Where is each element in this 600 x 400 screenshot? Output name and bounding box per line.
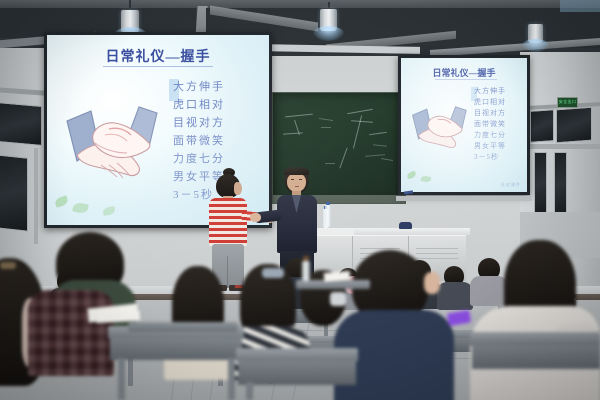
screen-tray-right [396, 196, 532, 201]
exit-sign: 安全出口 [557, 97, 578, 108]
leaf-decoration [103, 206, 116, 216]
slide-bullet: 虎口相对 [474, 97, 506, 108]
student-desk-front [498, 305, 574, 317]
audience-body [437, 282, 473, 310]
student-desk-front [264, 343, 352, 356]
slide-footer-mark: 礼仪课件 [501, 182, 521, 188]
exit-sign-label: 安全出口 [558, 98, 577, 106]
handshake-illustration [61, 95, 165, 187]
slide-bullet: 目视对方 [173, 114, 225, 132]
slide-bullet-list-right: 大方伸手 虎口相对 目视对方 面带微笑 力度七分 男女平等 3－5秒 [474, 86, 506, 163]
handshake-illustration [409, 98, 471, 156]
audience-body [358, 279, 396, 307]
left-wall-window-upper [0, 102, 42, 146]
leaf-decoration [406, 171, 416, 179]
audience-body [49, 288, 89, 314]
student-desk-front [260, 312, 332, 323]
student-desk-front [2, 320, 56, 330]
slide-title-right: 日常礼仪—握手 [401, 66, 527, 79]
audience-body [0, 278, 34, 304]
slide-bullet: 大方伸手 [173, 78, 225, 96]
teacher-hand [250, 213, 261, 222]
projection-screen-right[interactable]: 日常礼仪—握手 大方伸手 虎口相对 目视对方 面带微笑 力度七分 男女平等 3－… [398, 55, 530, 195]
audience-head [344, 276, 362, 294]
teacher-face [287, 173, 306, 192]
slide-bullet: 虎口相对 [173, 96, 225, 114]
student-desk-front [122, 338, 228, 354]
right-wall-window-b [556, 107, 592, 144]
audience-body [470, 276, 508, 306]
slide-bullet: 力度七分 [173, 150, 225, 168]
leaf-decoration [72, 202, 89, 215]
student-desk-front [390, 338, 486, 352]
leaf-decoration [420, 175, 431, 183]
slide-bullet: 大方伸手 [474, 86, 506, 97]
right-wall-door-a [534, 152, 547, 216]
slide-bullet: 面带微笑 [173, 132, 225, 150]
slide-bullet: 力度七分 [474, 130, 506, 141]
slide-bullet: 目视对方 [474, 108, 506, 119]
right-wall [520, 52, 600, 292]
right-wall-window-a [530, 109, 554, 143]
left-wall-window-lower [0, 154, 28, 231]
right-wall-door-b [554, 152, 567, 216]
slide-title-left: 日常礼仪—握手 [47, 46, 269, 66]
student-pants [212, 244, 244, 288]
podium-item-blue [399, 222, 412, 229]
leaf-decoration [54, 195, 69, 208]
slide-bullet: 男女平等 [474, 141, 506, 152]
classroom-scene: 安全出口 日常礼仪—握手 大方伸手 虎口相对 目视对 [0, 0, 600, 400]
audience-body [400, 279, 440, 309]
student-face [234, 182, 242, 195]
student-striped-sweater [209, 198, 247, 246]
slide-bullet: 3－5秒 [474, 152, 506, 163]
slide-bullet: 面带微笑 [474, 119, 506, 130]
audience-body [277, 277, 319, 309]
